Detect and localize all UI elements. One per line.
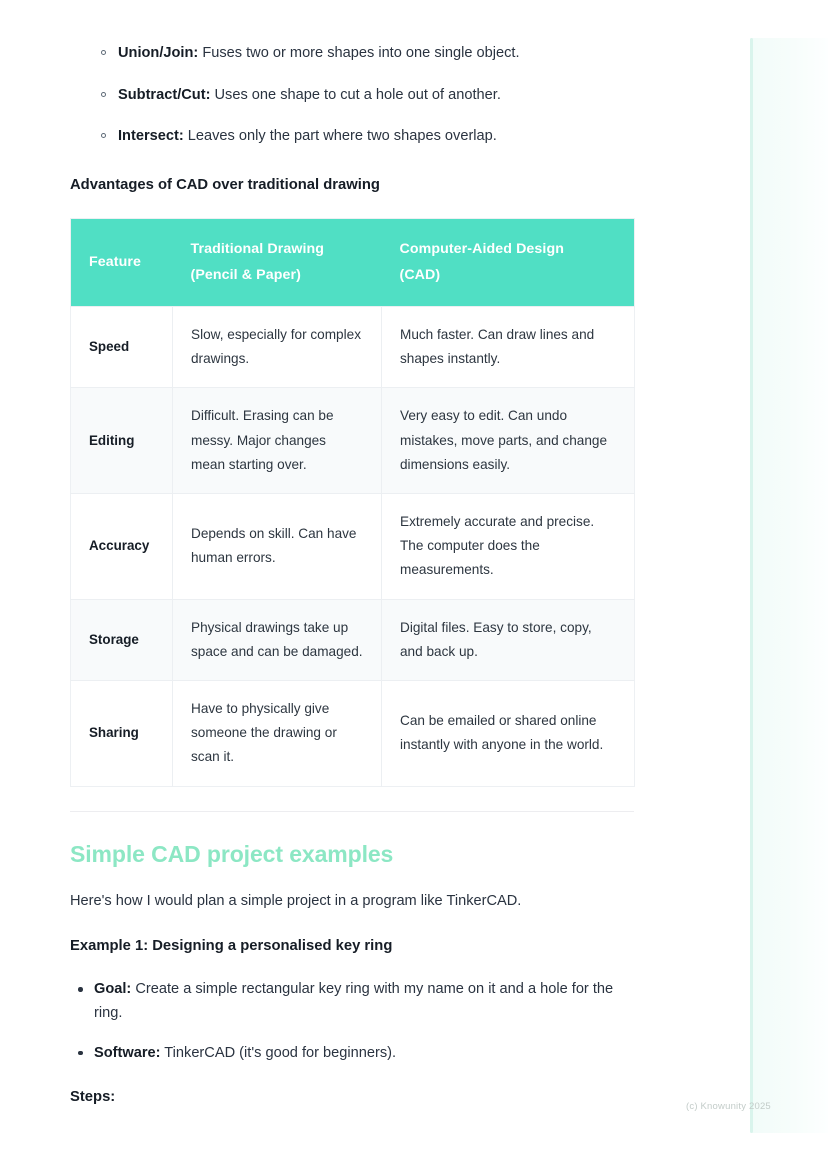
list-item-text: TinkerCAD (it's good for beginners). — [161, 1045, 397, 1061]
list-item: Subtract/Cut: Uses one shape to cut a ho… — [70, 84, 635, 107]
table-row: Sharing Have to physically give someone … — [71, 680, 635, 786]
table-body: Speed Slow, especially for complex drawi… — [71, 307, 635, 786]
copyright-watermark: (c) Knowunity 2025 — [686, 1101, 771, 1112]
cell-feature: Sharing — [71, 680, 173, 786]
list-item-text: Uses one shape to cut a hole out of anot… — [210, 87, 500, 103]
steps-label: Steps: — [70, 1087, 635, 1108]
table-row: Editing Difficult. Erasing can be messy.… — [71, 388, 635, 494]
column-header-feature: Feature — [71, 218, 173, 307]
column-header-cad: Computer-Aided Design (CAD) — [382, 218, 635, 307]
column-header-line2: (Pencil & Paper) — [191, 267, 301, 283]
list-item: Union/Join: Fuses two or more shapes int… — [70, 42, 635, 65]
examples-section-heading: Simple CAD project examples — [70, 840, 635, 869]
cell-traditional: Physical drawings take up space and can … — [173, 599, 382, 680]
column-header-line1: Computer-Aided Design — [400, 241, 564, 257]
list-item: Intersect: Leaves only the part where tw… — [70, 125, 635, 148]
examples-intro-paragraph: Here's how I would plan a simple project… — [70, 890, 635, 913]
list-item-lead: Intersect: — [118, 128, 184, 144]
cell-traditional: Difficult. Erasing can be messy. Major c… — [173, 388, 382, 494]
table-header-row: Feature Traditional Drawing (Pencil & Pa… — [71, 218, 635, 307]
list-item-lead: Software: — [94, 1045, 161, 1061]
table-row: Accuracy Depends on skill. Can have huma… — [71, 494, 635, 600]
cad-comparison-table: Feature Traditional Drawing (Pencil & Pa… — [70, 218, 635, 787]
column-header-line1: Traditional Drawing — [191, 241, 325, 257]
column-header-line2: (CAD) — [400, 267, 441, 283]
document-content: Union/Join: Fuses two or more shapes int… — [70, 0, 635, 1108]
advantages-heading: Advantages of CAD over traditional drawi… — [70, 175, 635, 196]
cell-feature: Accuracy — [71, 494, 173, 600]
example-1-heading: Example 1: Designing a personalised key … — [70, 936, 635, 957]
list-item: Software: TinkerCAD (it's good for begin… — [70, 1042, 635, 1066]
cell-cad: Very easy to edit. Can undo mistakes, mo… — [382, 388, 635, 494]
example-1-bullets: Goal: Create a simple rectangular key ri… — [70, 978, 635, 1065]
list-item-text: Fuses two or more shapes into one single… — [198, 45, 519, 61]
vertical-scroll-rail[interactable] — [750, 38, 753, 1133]
cell-feature: Storage — [71, 599, 173, 680]
boolean-operations-list: Union/Join: Fuses two or more shapes int… — [70, 42, 635, 148]
cell-feature: Speed — [71, 307, 173, 388]
cell-traditional: Depends on skill. Can have human errors. — [173, 494, 382, 600]
table-row: Storage Physical drawings take up space … — [71, 599, 635, 680]
list-item-lead: Goal: — [94, 981, 131, 997]
cell-cad: Can be emailed or shared online instantl… — [382, 680, 635, 786]
table-header: Feature Traditional Drawing (Pencil & Pa… — [71, 218, 635, 307]
list-item-lead: Union/Join: — [118, 45, 198, 61]
right-tinted-panel — [752, 38, 828, 1133]
column-header-line1: Feature — [89, 254, 141, 270]
table-row: Speed Slow, especially for complex drawi… — [71, 307, 635, 388]
list-item-text: Create a simple rectangular key ring wit… — [94, 981, 613, 1021]
list-item-lead: Subtract/Cut: — [118, 87, 210, 103]
cell-feature: Editing — [71, 388, 173, 494]
cell-cad: Extremely accurate and precise. The comp… — [382, 494, 635, 600]
list-item: Goal: Create a simple rectangular key ri… — [70, 978, 635, 1025]
cell-cad: Much faster. Can draw lines and shapes i… — [382, 307, 635, 388]
cell-cad: Digital files. Easy to store, copy, and … — [382, 599, 635, 680]
cell-traditional: Have to physically give someone the draw… — [173, 680, 382, 786]
list-item-text: Leaves only the part where two shapes ov… — [184, 128, 497, 144]
cell-traditional: Slow, especially for complex drawings. — [173, 307, 382, 388]
column-header-traditional: Traditional Drawing (Pencil & Paper) — [173, 218, 382, 307]
